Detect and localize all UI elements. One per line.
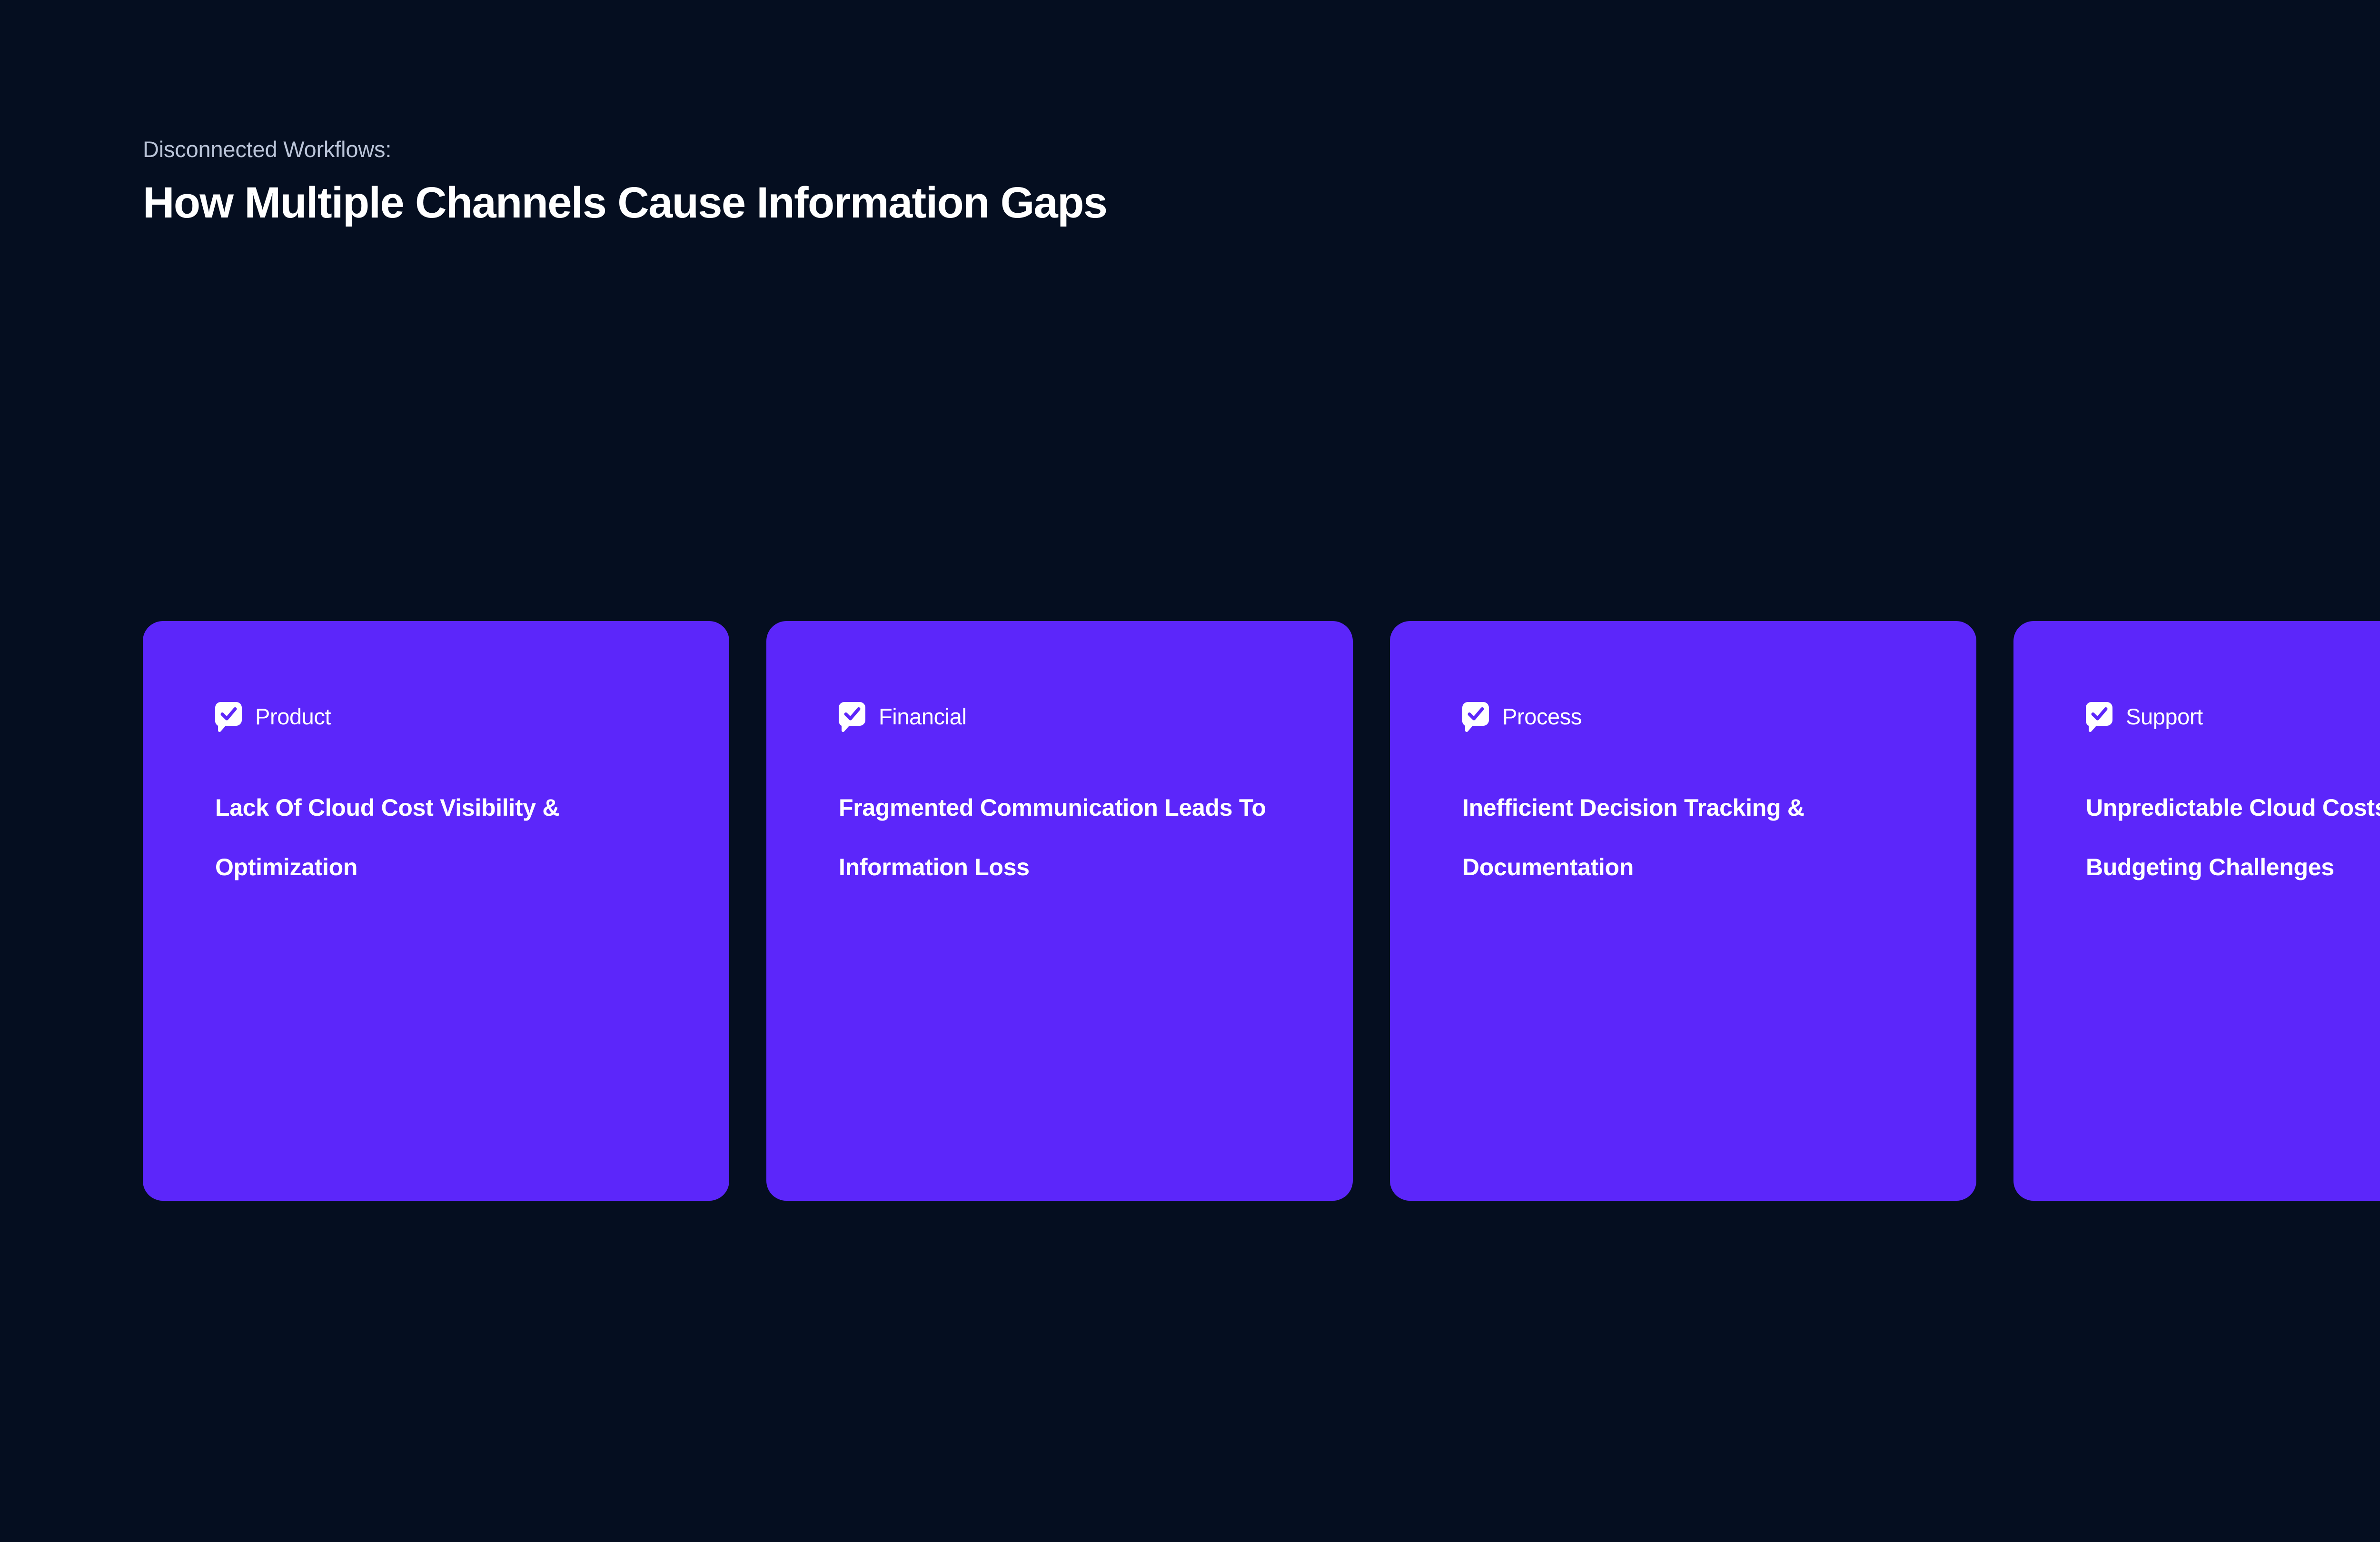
card-product[interactable]: Product Lack Of Cloud Cost Visibility & … — [143, 621, 729, 1201]
card-label: Process — [1502, 703, 1582, 730]
speech-bubble-check-icon — [1462, 702, 1489, 733]
page-title: How Multiple Channels Cause Information … — [143, 181, 2380, 225]
slide-header: Disconnected Workflows: How Multiple Cha… — [143, 138, 2380, 225]
card-body-text: Inefficient Decision Tracking & Document… — [1462, 778, 1931, 897]
card-header: Process — [1462, 699, 1931, 750]
card-label: Support — [2126, 703, 2203, 730]
card-label: Product — [255, 703, 331, 730]
card-process[interactable]: Process Inefficient Decision Tracking & … — [1390, 621, 1976, 1201]
card-row: Product Lack Of Cloud Cost Visibility & … — [143, 621, 2380, 1201]
card-support[interactable]: Support Unpredictable Cloud Costs Create… — [2013, 621, 2380, 1201]
card-header: Financial — [839, 699, 1307, 750]
card-header: Support — [2086, 699, 2380, 750]
speech-bubble-check-icon — [839, 702, 865, 733]
card-body-text: Fragmented Communication Leads To Inform… — [839, 778, 1307, 897]
speech-bubble-check-icon — [2086, 702, 2112, 733]
card-body-text: Unpredictable Cloud Costs Create Budgeti… — [2086, 778, 2380, 897]
card-body-text: Lack Of Cloud Cost Visibility & Optimiza… — [215, 778, 684, 897]
speech-bubble-check-icon — [215, 702, 242, 733]
card-header: Product — [215, 699, 684, 750]
eyebrow-text: Disconnected Workflows: — [143, 138, 2380, 160]
card-label: Financial — [879, 703, 967, 730]
card-financial[interactable]: Financial Fragmented Communication Leads… — [766, 621, 1353, 1201]
slide-canvas: Disconnected Workflows: How Multiple Cha… — [0, 0, 2380, 1542]
